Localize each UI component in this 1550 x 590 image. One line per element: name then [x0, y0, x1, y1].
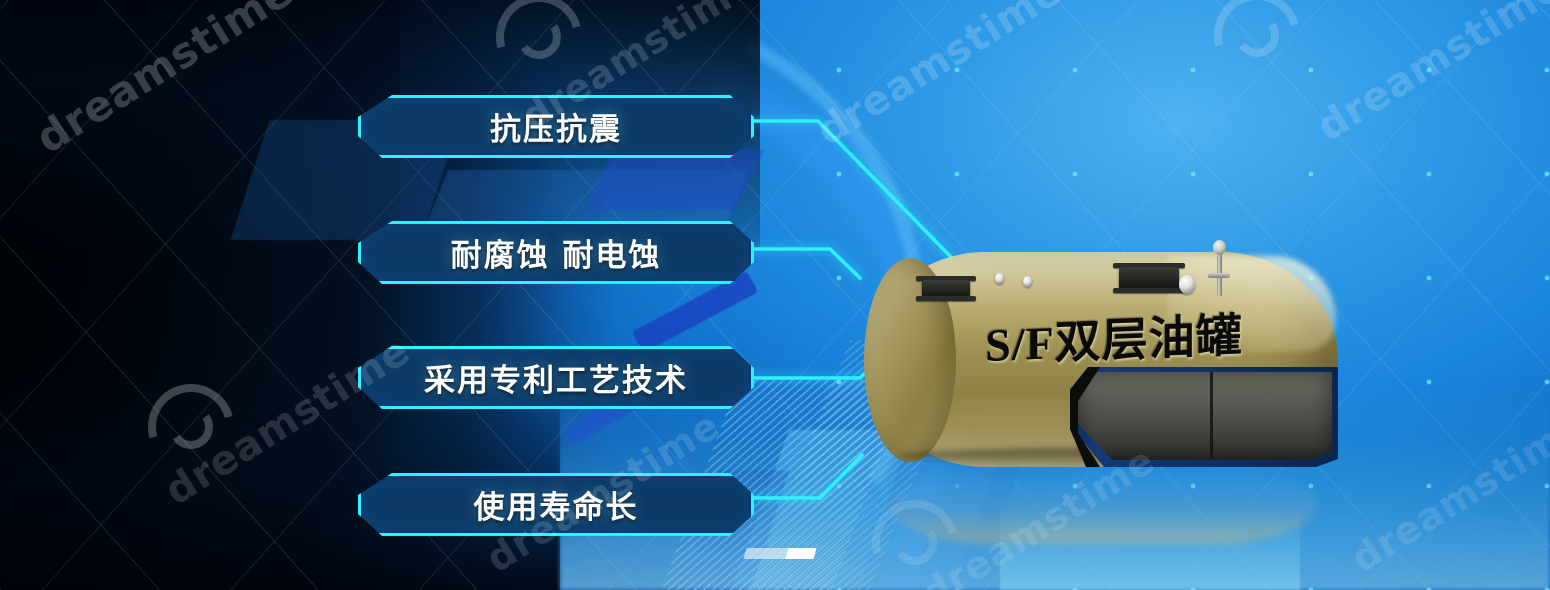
- round-fitting-icon: [1179, 275, 1195, 294]
- inner-tank-seam: [1210, 372, 1213, 458]
- feature-label: 抗压抗震: [490, 104, 622, 149]
- vent-pipe-flange: [1208, 273, 1230, 278]
- tank-reflection: [888, 466, 1318, 544]
- manhole-lip: [916, 296, 976, 301]
- inner-steel-tank: [1078, 372, 1332, 460]
- feature-chip-1[interactable]: 抗压抗震: [358, 95, 754, 158]
- feature-chip-inner: 耐腐蚀 耐电蚀: [361, 224, 751, 281]
- manhole-icon: [1119, 267, 1179, 289]
- tank-cutaway: [1070, 367, 1338, 467]
- decorative-bar: [785, 548, 816, 559]
- feature-label: 采用专利工艺技术: [424, 355, 688, 400]
- feature-chip-3[interactable]: 采用专利工艺技术: [358, 346, 754, 409]
- feature-label: 耐腐蚀 耐电蚀: [451, 230, 662, 275]
- oil-tank-illustration: S/F双层油罐: [868, 252, 1338, 484]
- tech-plate: [585, 150, 764, 210]
- feature-chip-2[interactable]: 耐腐蚀 耐电蚀: [358, 221, 754, 284]
- tank-product-name: S/F双层油罐: [964, 298, 1264, 376]
- vent-pipe-cap: [1213, 240, 1226, 255]
- feature-label: 使用寿命长: [474, 482, 639, 527]
- round-fitting-icon: [995, 273, 1004, 284]
- round-fitting-icon: [1023, 276, 1032, 287]
- manhole-icon: [922, 280, 970, 297]
- banner-stage: 抗压抗震 耐腐蚀 耐电蚀 采用专利工艺技术 使用寿命长: [0, 0, 1550, 590]
- feature-chip-inner: 使用寿命长: [361, 476, 751, 533]
- feature-chip-4[interactable]: 使用寿命长: [358, 473, 754, 536]
- manhole-lip: [1113, 288, 1185, 293]
- feature-chip-inner: 采用专利工艺技术: [361, 349, 751, 406]
- feature-chip-inner: 抗压抗震: [361, 98, 751, 155]
